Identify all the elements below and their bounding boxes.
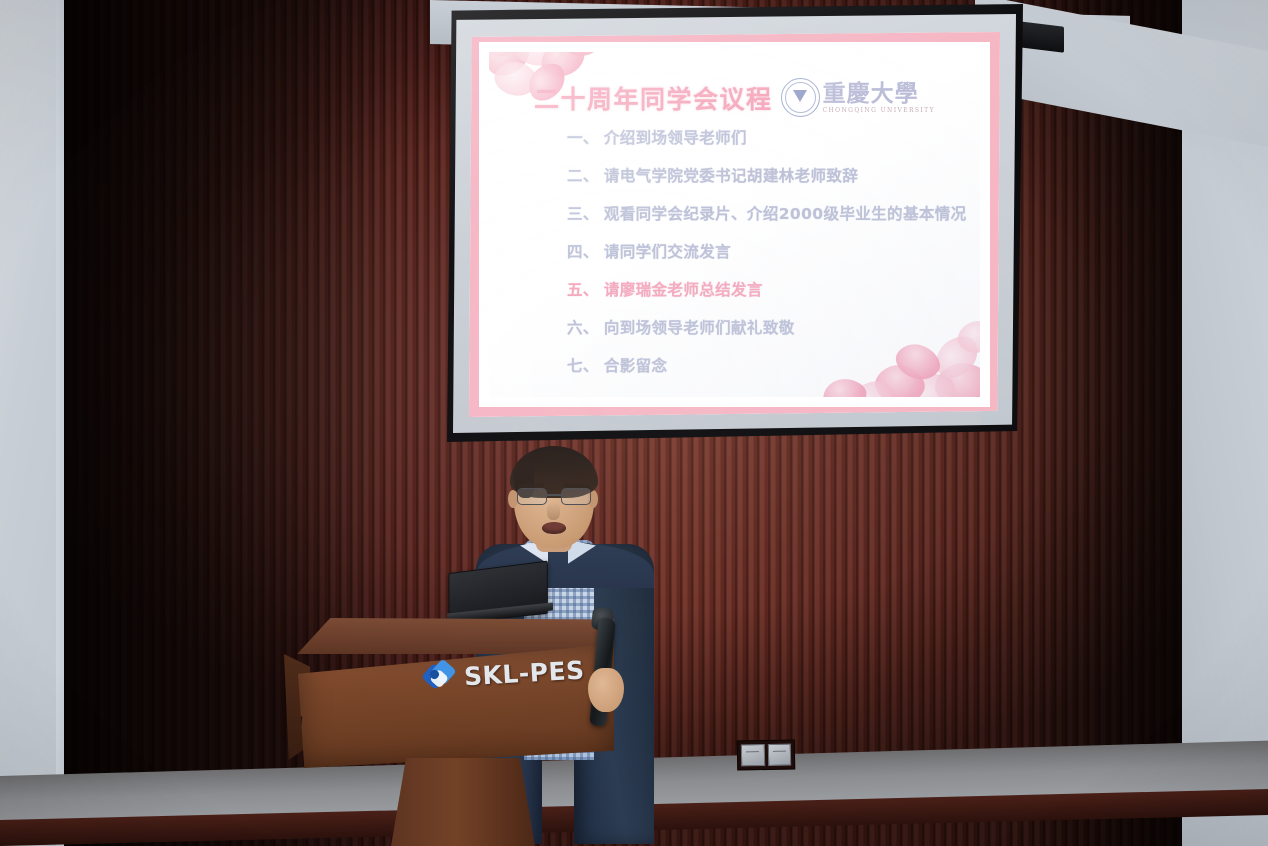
university-seal-icon [781,78,820,117]
mouth [542,522,566,534]
podium-top-surface [284,618,614,654]
university-name-cn: 重慶大學 [823,82,935,105]
glasses-bridge [547,494,561,496]
agenda-item-4: 四、请同学们交流发言 [567,240,958,262]
projection-screen: 二十周年同学会议程 重慶大學 CHONGQING UNIVERSITY [447,4,1023,442]
slide-content-area: 二十周年同学会议程 重慶大學 CHONGQING UNIVERSITY [489,52,980,397]
podium: SKL-PES [284,618,614,846]
agenda-item-2: 二、请电气学院党委书记胡建林老师致辞 [567,164,958,186]
university-name-en: CHONGQING UNIVERSITY [823,107,935,114]
slide-header: 二十周年同学会议程 重慶大學 CHONGQING UNIVERSITY [489,78,980,117]
agenda-item-5-text: 请廖瑞金老师总结发言 [604,281,763,299]
slide: 二十周年同学会议程 重慶大學 CHONGQING UNIVERSITY [469,32,1000,417]
podium-base [388,758,538,846]
slide-pink-border: 二十周年同学会议程 重慶大學 CHONGQING UNIVERSITY [469,32,1000,417]
skl-pes-logo-icon [423,661,457,695]
agenda-item-7-text: 合影留念 [604,357,668,375]
agenda-item-2-text: 请电气学院党委书记胡建林老师致辞 [604,167,858,185]
screen-surface: 二十周年同学会议程 重慶大學 CHONGQING UNIVERSITY [453,14,1016,433]
glasses-lens-left [517,488,547,505]
agenda-item-1-number: 一、 [567,129,599,147]
agenda-item-4-text: 请同学们交流发言 [604,243,731,261]
agenda-item-5: 五、请廖瑞金老师总结发言 [567,278,958,300]
agenda-item-6-number: 六、 [567,319,599,337]
wall-socket[interactable] [737,739,796,770]
podium-lab-name: SKL-PES [463,655,585,691]
agenda-item-3-text: 观看同学会纪录片、介绍2000级毕业生的基本情况 [604,205,967,223]
socket-outlet-right [767,744,791,766]
glasses-lens-right [561,488,591,505]
agenda-item-6: 六、向到场领导老师们献礼致敬 [567,316,958,338]
agenda-item-2-number: 二、 [567,167,599,185]
agenda-item-1: 一、介绍到场领导老师们 [567,126,958,148]
nose [547,502,560,520]
agenda-item-7: 七、合影留念 [567,354,958,376]
agenda-item-3: 三、观看同学会纪录片、介绍2000级毕业生的基本情况 [567,202,958,224]
agenda-item-3-number: 三、 [567,205,599,223]
slide-title: 二十周年同学会议程 [534,80,773,116]
hand [588,668,624,712]
agenda-item-6-text: 向到场领导老师们献礼致敬 [604,319,795,337]
cable [292,716,360,840]
agenda-item-1-text: 介绍到场领导老师们 [604,129,747,147]
university-logo: 重慶大學 CHONGQING UNIVERSITY [781,78,935,117]
agenda-item-4-number: 四、 [567,243,599,261]
agenda-list: 一、介绍到场领导老师们 二、请电气学院党委书记胡建林老师致辞 三、观看同学会纪录… [567,126,958,392]
socket-outlet-left [741,744,765,766]
agenda-item-7-number: 七、 [567,357,599,375]
presentation-photo-scene: 二十周年同学会议程 重慶大學 CHONGQING UNIVERSITY [0,0,1268,846]
agenda-item-5-number: 五、 [567,281,599,299]
